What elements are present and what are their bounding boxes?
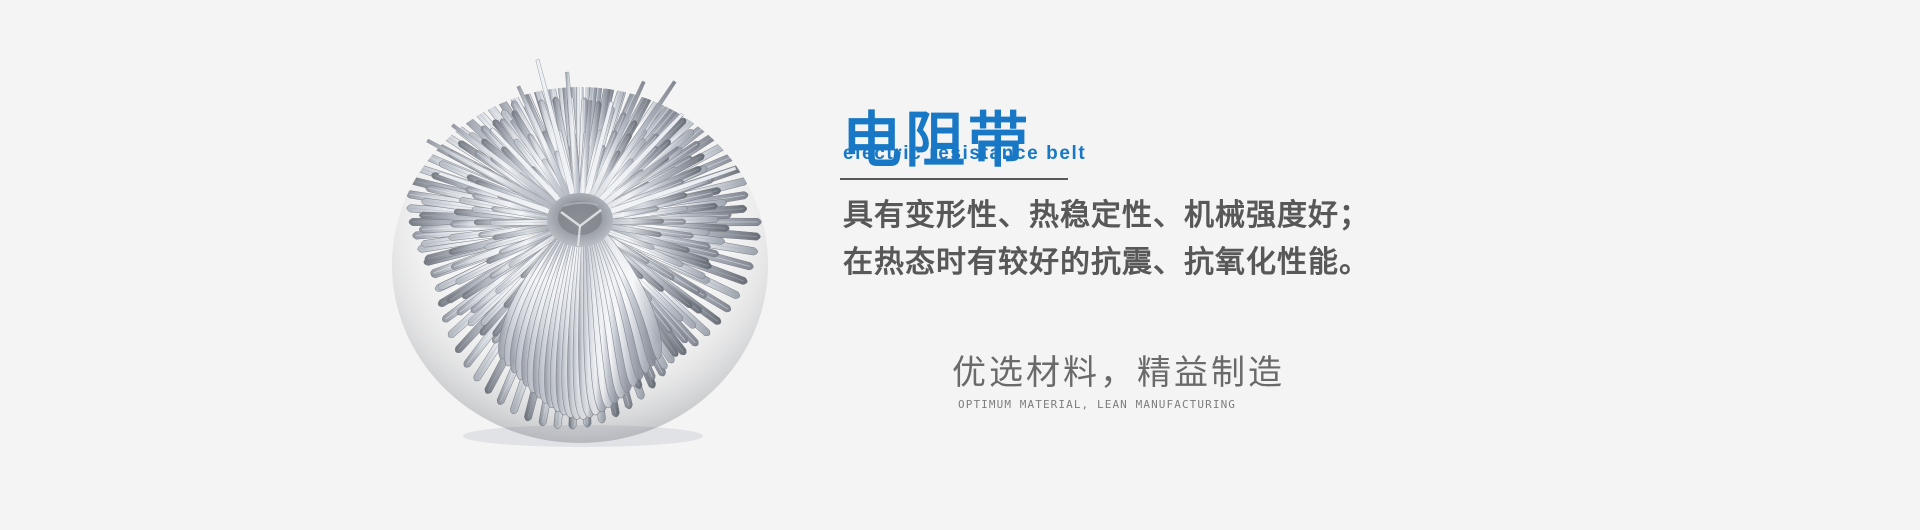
text-column: 电阻带 electric resistance belt 具有变形性、热稳定性、… [840,46,1840,486]
product-image [355,50,805,450]
description-block: 具有变形性、热稳定性、机械强度好； 在热态时有较好的抗震、抗氧化性能。 [843,192,1543,286]
tagline-english: OPTIMUM MATERIAL, LEAN MANUFACTURING [958,398,1472,412]
page-subtitle: electric resistance belt [843,142,1086,166]
product-banner: 电阻带 electric resistance belt 具有变形性、热稳定性、… [0,0,1920,530]
description-line-1: 具有变形性、热稳定性、机械强度好； [843,192,1543,239]
description-line-2: 在热态时有较好的抗震、抗氧化性能。 [843,239,1543,286]
tagline-block: 优选材料，精益制造 OPTIMUM MATERIAL, LEAN MANUFAC… [952,353,1472,412]
title-divider [840,178,1068,180]
tagline-chinese: 优选材料，精益制造 [952,353,1472,393]
